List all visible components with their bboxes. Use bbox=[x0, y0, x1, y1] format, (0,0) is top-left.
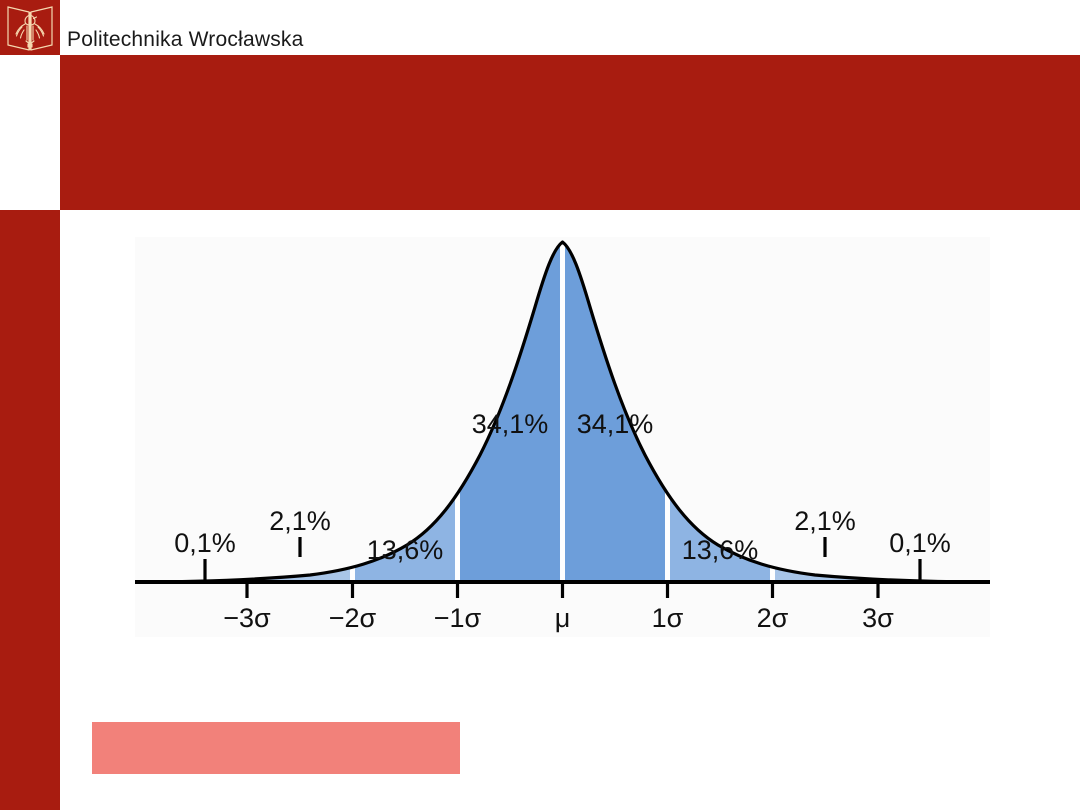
label-right-tail: 0,1% bbox=[889, 528, 951, 558]
x-tick-label: 2σ bbox=[757, 603, 789, 633]
brand-title: Politechnika Wrocławska bbox=[67, 29, 303, 50]
label-right-mid: 13,6% bbox=[682, 535, 759, 565]
normal-distribution-chart: −3σ −2σ −1σ μ 1σ 2σ 3σ 0,1% 2,1% 13,6% 3… bbox=[135, 237, 990, 637]
label-right-inner: 34,1% bbox=[577, 409, 654, 439]
label-left-inner: 34,1% bbox=[472, 409, 549, 439]
footer-placeholder-box bbox=[92, 722, 460, 774]
label-left-outer: 2,1% bbox=[269, 506, 331, 536]
label-left-tail: 0,1% bbox=[174, 528, 236, 558]
x-tick-label: −2σ bbox=[329, 603, 377, 633]
x-tick-label: 1σ bbox=[652, 603, 684, 633]
university-logo bbox=[0, 0, 60, 55]
sidebar-strip bbox=[0, 210, 60, 810]
x-tick-label: −1σ bbox=[434, 603, 482, 633]
slide-canvas: Politechnika Wrocławska bbox=[0, 0, 1080, 810]
label-right-outer: 2,1% bbox=[794, 506, 856, 536]
x-tick-label: 3σ bbox=[862, 603, 894, 633]
pwr-eagle-shield-logo-icon bbox=[0, 0, 60, 55]
x-tick-label: μ bbox=[555, 603, 571, 633]
x-tick-label: −3σ bbox=[223, 603, 271, 633]
label-left-mid: 13,6% bbox=[367, 535, 444, 565]
bell-curve-svg: −3σ −2σ −1σ μ 1σ 2σ 3σ 0,1% 2,1% 13,6% 3… bbox=[135, 237, 990, 637]
header-band bbox=[60, 55, 1080, 210]
